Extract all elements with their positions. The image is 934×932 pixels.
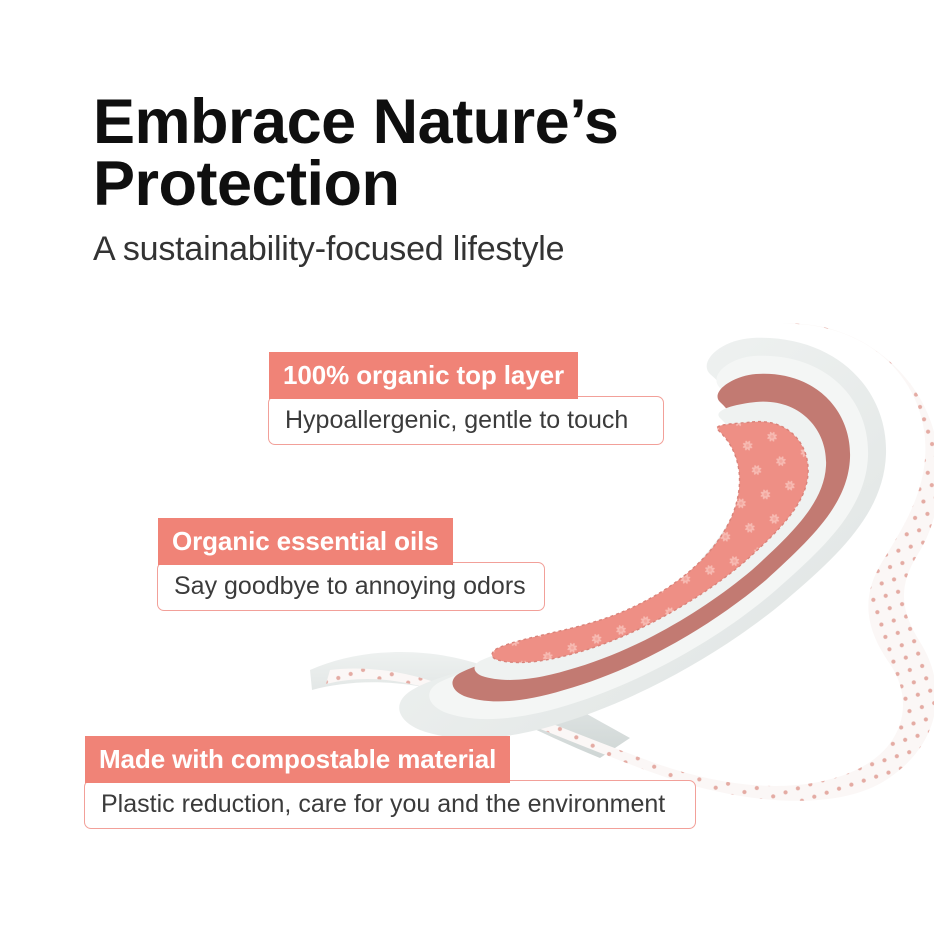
page-title: Embrace Nature’s Protection <box>93 92 733 215</box>
callout-compostable-material: Made with compostable material Plastic r… <box>84 780 696 829</box>
callout-header-label: Organic essential oils <box>158 518 453 565</box>
callout-body: Organic essential oils Say goodbye to an… <box>157 562 545 611</box>
callout-header-label: 100% organic top layer <box>269 352 578 399</box>
callout-body: 100% organic top layer Hypoallergenic, g… <box>268 396 664 445</box>
callout-body: Made with compostable material Plastic r… <box>84 780 696 829</box>
callout-description: Plastic reduction, care for you and the … <box>101 790 679 818</box>
headline-block: Embrace Nature’s Protection A sustainabi… <box>93 92 733 269</box>
infographic-poster: Embrace Nature’s Protection A sustainabi… <box>0 0 934 932</box>
callout-description: Hypoallergenic, gentle to touch <box>285 406 647 434</box>
page-subtitle: A sustainability-focused lifestyle <box>93 231 733 268</box>
callout-description: Say goodbye to annoying odors <box>174 572 528 600</box>
callout-header-label: Made with compostable material <box>85 736 510 783</box>
callout-organic-essential-oils: Organic essential oils Say goodbye to an… <box>157 562 545 611</box>
callout-organic-top-layer: 100% organic top layer Hypoallergenic, g… <box>268 396 664 445</box>
